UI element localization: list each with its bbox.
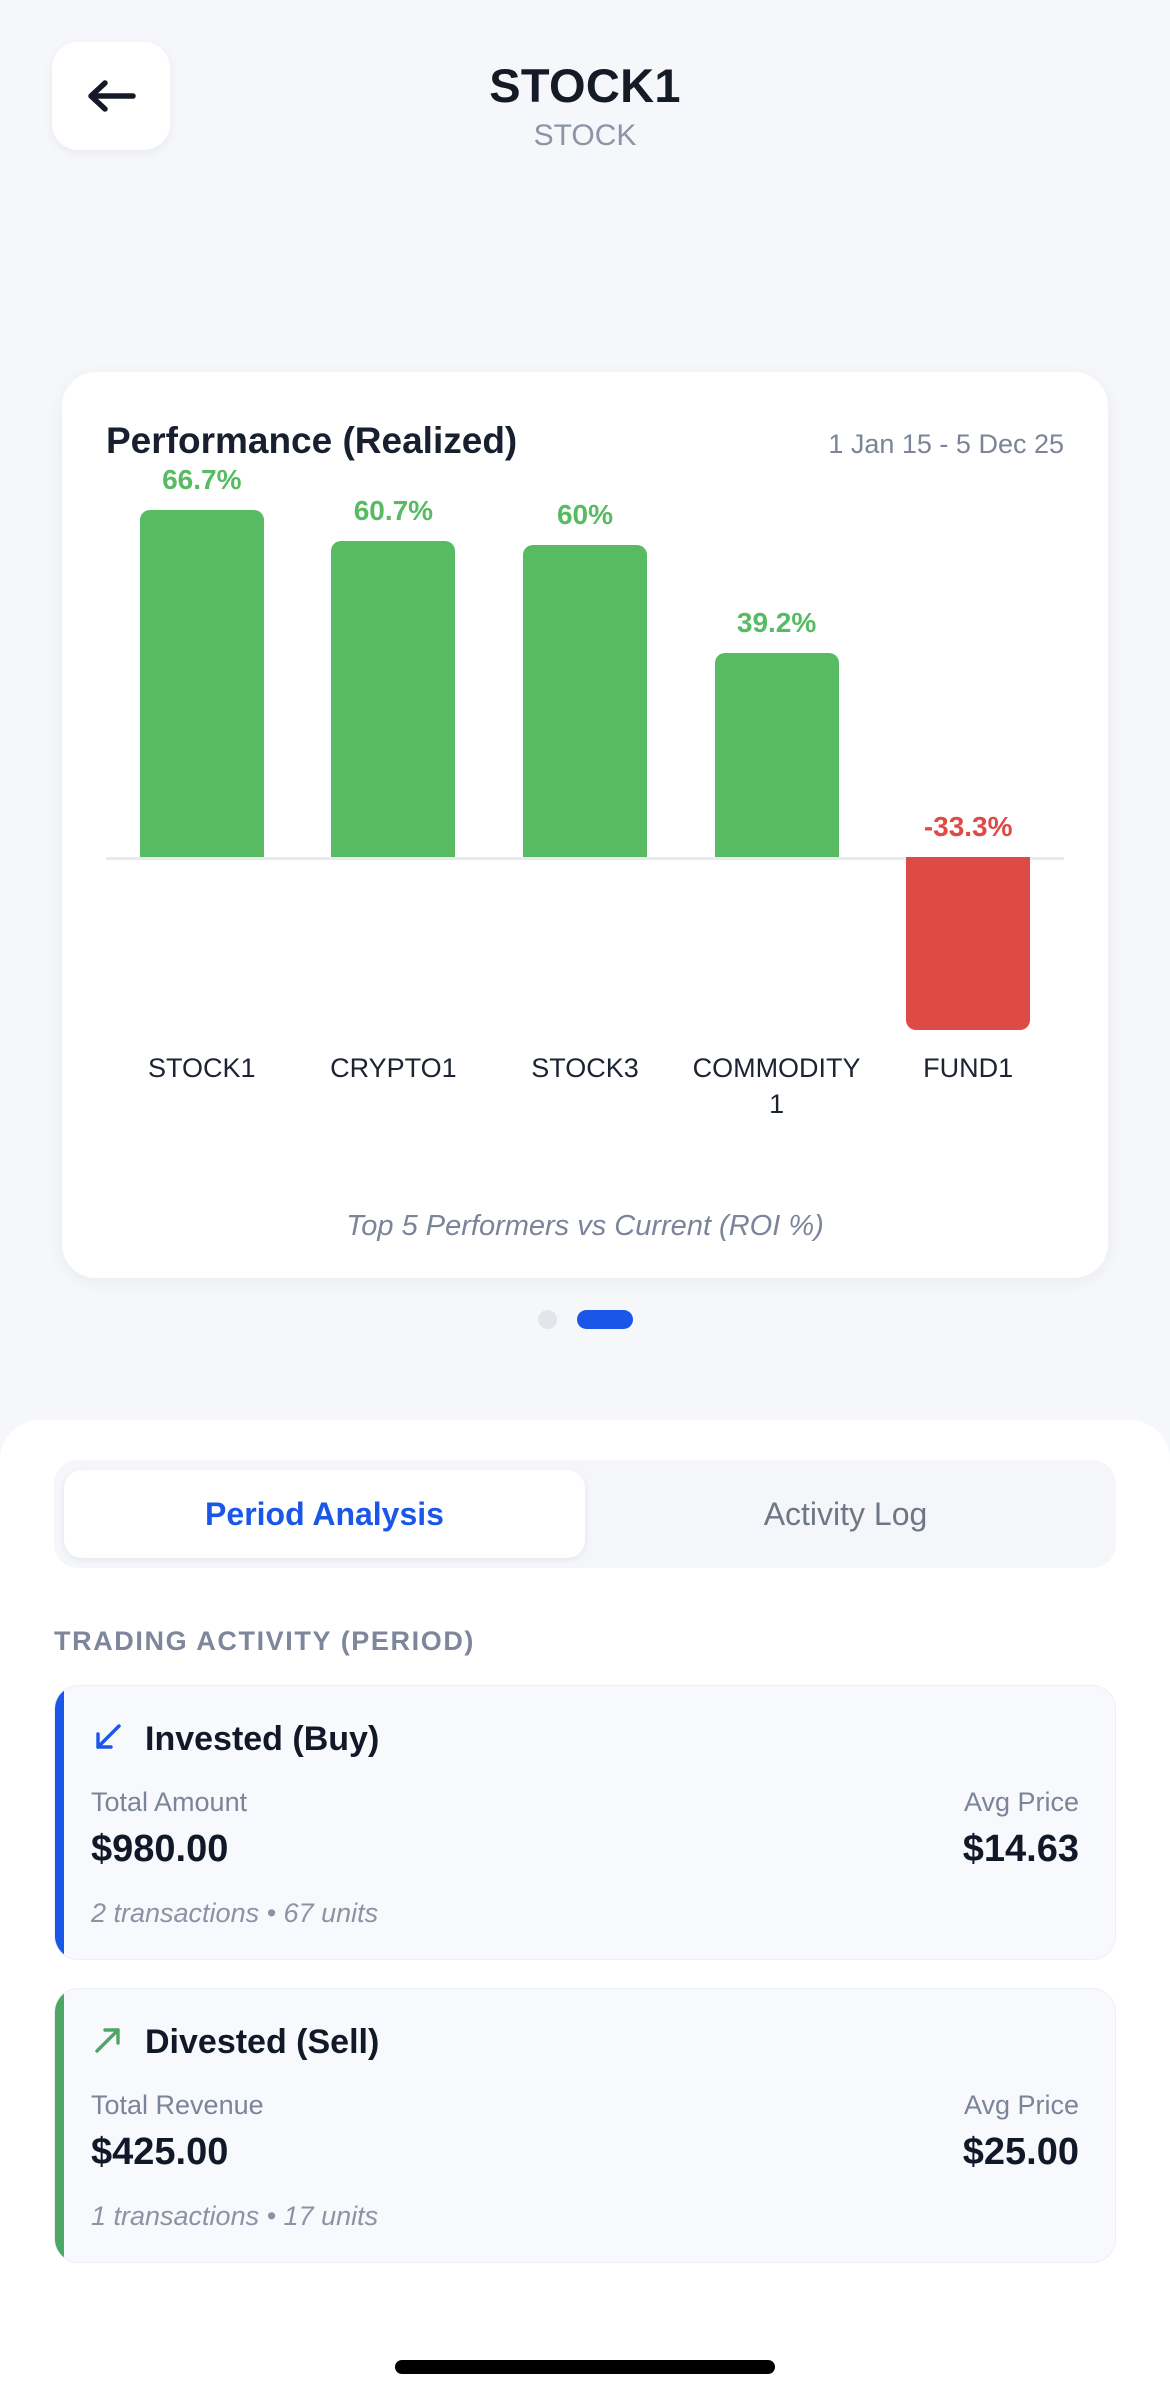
page-header: STOCK1 STOCK: [0, 0, 1170, 185]
carousel-dot[interactable]: [538, 1310, 557, 1329]
activity-secondary-value: $14.63: [963, 1828, 1079, 1872]
performance-card: Performance (Realized) 1 Jan 15 - 5 Dec …: [62, 372, 1108, 1278]
performance-card-header: Performance (Realized) 1 Jan 15 - 5 Dec …: [106, 420, 1064, 462]
arrow-down-left-icon: [91, 1720, 125, 1759]
arrow-left-icon: [85, 74, 137, 118]
title-block: STOCK1 STOCK: [0, 40, 1170, 153]
tab-bar: Period Analysis Activity Log: [54, 1460, 1116, 1568]
activity-primary-metric: Total Amount $980.00: [91, 1785, 247, 1872]
activity-primary-label: Total Amount: [91, 1785, 247, 1820]
activity-card-title: Invested (Buy): [145, 1720, 379, 1759]
chart-caption: Top 5 Performers vs Current (ROI %): [106, 1210, 1064, 1243]
activity-primary-label: Total Revenue: [91, 2088, 264, 2123]
tab-period-analysis-label: Period Analysis: [205, 1496, 444, 1533]
performance-title: Performance (Realized): [106, 420, 517, 462]
activity-secondary-label: Avg Price: [963, 2088, 1079, 2123]
carousel-dot[interactable]: [577, 1310, 633, 1329]
performance-date-range: 1 Jan 15 - 5 Dec 25: [828, 429, 1064, 460]
chart-bar-value-label: 66.7%: [106, 466, 298, 494]
chart-x-label: STOCK1: [106, 1050, 298, 1123]
activity-card-meta: 1 transactions • 17 units: [91, 2201, 1079, 2232]
page-title: STOCK1: [0, 60, 1170, 113]
chart-bars: 66.7%60.7%60%39.2%-33.3%: [106, 510, 1064, 1030]
activity-card-invested[interactable]: Invested (Buy) Total Amount $980.00 Avg …: [54, 1685, 1116, 1960]
activity-secondary-value: $25.00: [963, 2131, 1079, 2175]
activity-primary-value: $980.00: [91, 1828, 247, 1872]
section-title-trading-activity: TRADING ACTIVITY (PERIOD): [54, 1626, 1116, 1657]
chart-bar: [523, 545, 647, 857]
activity-secondary-metric: Avg Price $14.63: [963, 1785, 1079, 1872]
chart-bar: [715, 653, 839, 857]
chart-bar-value-label: -33.3%: [872, 813, 1064, 841]
page-subtitle: STOCK: [0, 119, 1170, 154]
activity-primary-value: $425.00: [91, 2131, 264, 2175]
activity-card-values: Total Amount $980.00 Avg Price $14.63: [91, 1785, 1079, 1872]
activity-card-title: Divested (Sell): [145, 2023, 379, 2062]
activity-card-header: Invested (Buy): [91, 1720, 1079, 1759]
chart-bar-column: 39.2%: [681, 510, 873, 1030]
back-button[interactable]: [52, 42, 170, 150]
chart-bar: [140, 510, 264, 857]
activity-card-divested[interactable]: Divested (Sell) Total Revenue $425.00 Av…: [54, 1988, 1116, 2263]
activity-secondary-label: Avg Price: [963, 1785, 1079, 1820]
tab-period-analysis[interactable]: Period Analysis: [64, 1470, 585, 1558]
date-range-slider[interactable]: [0, 205, 1170, 305]
chart-bar-column: 60%: [489, 510, 681, 1030]
chart-bar-value-label: 60%: [489, 501, 681, 529]
activity-secondary-metric: Avg Price $25.00: [963, 2088, 1079, 2175]
activity-card-meta: 2 transactions • 67 units: [91, 1898, 1079, 1929]
chart-bar-column: 66.7%: [106, 510, 298, 1030]
chart-x-axis-labels: STOCK1CRYPTO1STOCK3COMMODITY1FUND1: [106, 1050, 1064, 1123]
chart-x-label: FUND1: [872, 1050, 1064, 1123]
chart-bar-column: -33.3%: [872, 510, 1064, 1030]
roi-bar-chart: 66.7%60.7%60%39.2%-33.3% STOCK1CRYPTO1ST…: [106, 510, 1064, 1030]
chart-bar: [906, 857, 1030, 1030]
bottom-sheet: Period Analysis Activity Log TRADING ACT…: [0, 1420, 1170, 2394]
tab-activity-log-label: Activity Log: [764, 1496, 928, 1533]
activity-primary-metric: Total Revenue $425.00: [91, 2088, 264, 2175]
activity-card-header: Divested (Sell): [91, 2023, 1079, 2062]
activity-card-values: Total Revenue $425.00 Avg Price $25.00: [91, 2088, 1079, 2175]
chart-x-label: COMMODITY1: [681, 1050, 873, 1123]
home-indicator: [395, 2360, 775, 2374]
chart-bar-column: 60.7%: [298, 510, 490, 1030]
tab-activity-log[interactable]: Activity Log: [585, 1470, 1106, 1558]
chart-x-label: STOCK3: [489, 1050, 681, 1123]
chart-bar: [331, 541, 455, 857]
chart-bar-value-label: 39.2%: [681, 609, 873, 637]
carousel-pagination[interactable]: [0, 1310, 1170, 1329]
chart-x-label: CRYPTO1: [298, 1050, 490, 1123]
chart-bar-value-label: 60.7%: [298, 497, 490, 525]
arrow-up-right-icon: [91, 2023, 125, 2062]
